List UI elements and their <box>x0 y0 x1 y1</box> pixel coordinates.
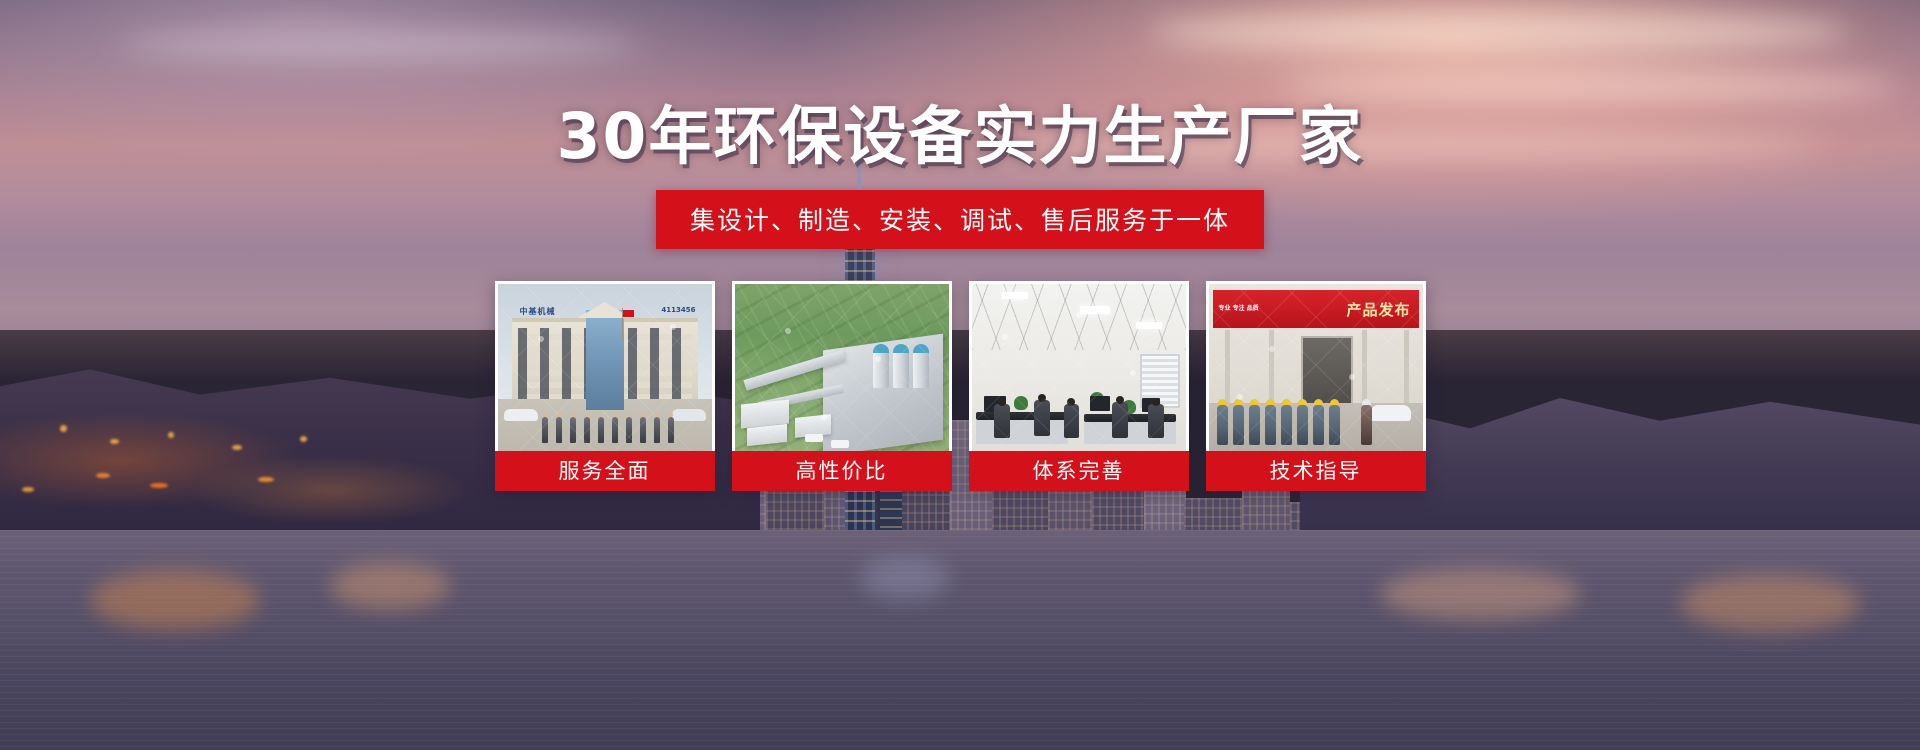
banner-content: 30年环保设备实力生产厂家 集设计、制造、安装、调试、售后服务于一体 中基机械 … <box>0 0 1920 750</box>
card-photo-office-interior <box>972 284 1186 451</box>
page-title: 30年环保设备实力生产厂家 <box>0 104 1920 170</box>
hero-banner: 30年环保设备实力生产厂家 集设计、制造、安装、调试、售后服务于一体 中基机械 … <box>0 0 1920 750</box>
feature-card-list: 中基机械 4113456 <box>0 281 1920 491</box>
feature-card[interactable]: 中基机械 4113456 <box>495 281 715 491</box>
card-label: 体系完善 <box>969 451 1189 491</box>
feature-card[interactable]: 体系完善 <box>969 281 1189 491</box>
building-sign-text: 中基机械 <box>520 306 556 317</box>
factory-banner-subtext-left: 专业 专注 品质 <box>1219 305 1259 313</box>
factory-banner: 专业 专注 品质 产品发布 <box>1213 290 1419 328</box>
subtitle-badge: 集设计、制造、安装、调试、售后服务于一体 <box>656 190 1264 249</box>
feature-card[interactable]: 专业 专注 品质 产品发布 <box>1206 281 1426 491</box>
card-photo-office-building: 中基机械 4113456 <box>498 284 712 451</box>
card-photo-aerial-plant <box>735 284 949 451</box>
card-label: 服务全面 <box>495 451 715 491</box>
subtitle-container: 集设计、制造、安装、调试、售后服务于一体 <box>0 190 1920 249</box>
building-phone-text: 4113456 <box>661 306 695 314</box>
card-label: 高性价比 <box>732 451 952 491</box>
feature-card[interactable]: 高性价比 <box>732 281 952 491</box>
card-photo-factory-training: 专业 专注 品质 产品发布 <box>1209 284 1423 451</box>
factory-banner-title: 产品发布 <box>1346 299 1410 320</box>
card-label: 技术指导 <box>1206 451 1426 491</box>
